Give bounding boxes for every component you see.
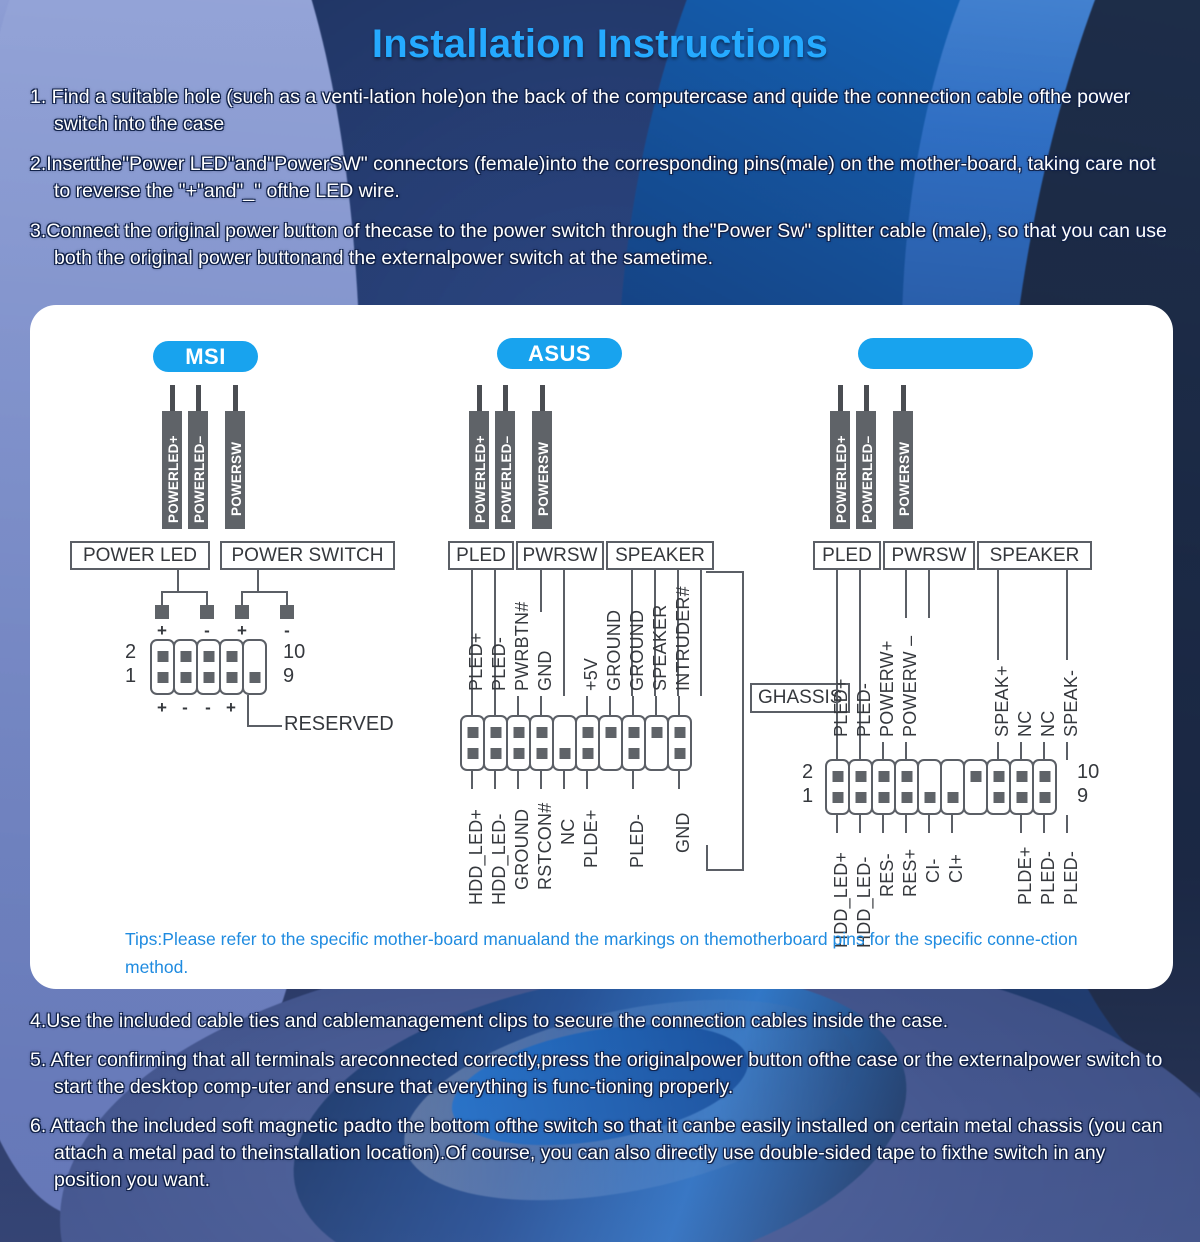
page-title: Installation Instructions [0, 22, 1200, 67]
pin-lead [905, 815, 907, 833]
pin-lead [586, 771, 588, 789]
pin-number-2: 2 [802, 761, 813, 784]
pin-cell [506, 715, 531, 771]
pin-lead [471, 771, 473, 789]
instruction-item: 1. Find a suitable hole (such as a venti… [30, 84, 1175, 138]
connector-box-pled: PLED [813, 541, 881, 570]
pin-cell [552, 715, 577, 771]
plug-label: POWERLED– [192, 436, 207, 523]
plug-powersw: POWERSW [893, 411, 913, 529]
pin-label-bottom: CI- [923, 858, 944, 883]
plug-label: POWERLED+ [473, 435, 488, 523]
pin-label-bottom: PLED- [1038, 851, 1059, 905]
pin-cell [575, 715, 600, 771]
pin-label-bottom: CI+ [946, 854, 967, 883]
pin-cell [219, 639, 244, 695]
plug-powerled-minus: POWERLED– [495, 411, 515, 529]
plug-lead [503, 385, 508, 411]
reserved-label: RESERVED [284, 713, 394, 736]
reserved-line [247, 695, 249, 727]
pin-lead [1020, 742, 1022, 760]
pin-lead [540, 771, 542, 789]
pin-lead [632, 771, 634, 789]
instruction-item: 2.Insertthe"Power LED"and"PowerSW" conne… [30, 151, 1175, 205]
plug-powersw: POWERSW [225, 411, 245, 529]
instruction-item: 4.Use the included cable ties and cablem… [30, 1008, 1175, 1035]
branch-line [286, 591, 288, 605]
pin-cell [894, 759, 919, 815]
pin-label-top: PLED+ [466, 632, 487, 691]
connector-box-pwrsw: PWRSW [516, 541, 604, 570]
plug-lead [233, 385, 238, 411]
pin-label-top: SPEAK- [1061, 670, 1082, 737]
pin-label-bottom: PLDE+ [1015, 846, 1036, 905]
pin-header-third [825, 759, 1055, 815]
pin-number-10: 10 [283, 641, 305, 664]
polarity-mark: + [224, 698, 238, 718]
pin-label-bottom: RES+ [900, 849, 921, 897]
instruction-item: 5. After confirming that all terminals a… [30, 1047, 1175, 1101]
pin-lead [997, 742, 999, 760]
pin-label-top: SPEAK+ [992, 665, 1013, 737]
chassis-bracket [706, 845, 708, 871]
pin-lead [1043, 815, 1045, 833]
pin-lead [678, 771, 680, 789]
pin-cell [1032, 759, 1057, 815]
page-root: Installation Instructions 1. Find a suit… [0, 0, 1200, 1242]
pin-label-bottom: NC [558, 819, 579, 845]
pin-header-asus [460, 715, 690, 771]
pin-label-top: INTRUDER# [673, 586, 694, 691]
pin-lead [609, 696, 611, 716]
plug-pin [200, 605, 214, 619]
pin-number-9: 9 [283, 665, 294, 688]
brand-badge-third [858, 338, 1033, 369]
plug-label: POWERSW [897, 442, 912, 516]
pin-lead [836, 815, 838, 833]
plug-lead [864, 385, 869, 411]
pin-lead [836, 742, 838, 760]
instructions-top-list: 1. Find a suitable hole (such as a venti… [30, 84, 1175, 285]
pin-cell [986, 759, 1011, 815]
branch-line [241, 591, 243, 605]
plug-lead [477, 385, 482, 411]
pin-lead [905, 742, 907, 760]
pin-cell [644, 715, 669, 771]
pin-label-top: GROUND [627, 610, 648, 691]
pin-lead [517, 771, 519, 789]
drop-line [928, 570, 930, 618]
pin-label-top: POWERW – [900, 636, 921, 737]
pin-cell [825, 759, 850, 815]
reserved-line [247, 725, 282, 727]
pin-number-9: 9 [1077, 785, 1088, 808]
polarity-mark: + [235, 621, 249, 641]
pin-label-top: PWRBTN# [512, 602, 533, 691]
pin-label-bottom: RSTCON# [535, 803, 556, 890]
plug-label: POWERLED+ [166, 435, 181, 523]
pin-label-top: NC [1015, 711, 1036, 737]
tips-text: Tips:Please refer to the specific mother… [125, 925, 1085, 981]
connector-box-pled: PLED [448, 541, 514, 570]
instruction-item: 6. Attach the included soft magnetic pad… [30, 1113, 1175, 1194]
pin-cell [667, 715, 692, 771]
drop-line [700, 570, 702, 696]
polarity-mark: - [178, 698, 192, 718]
plug-label: POWERSW [229, 442, 244, 516]
plug-label: POWERLED+ [834, 435, 849, 523]
branch-line [257, 570, 259, 592]
pin-lead [494, 696, 496, 716]
pin-cell [529, 715, 554, 771]
instructions-bottom-list: 4.Use the included cable ties and cablem… [30, 1008, 1175, 1206]
pin-lead [471, 696, 473, 716]
pin-label-bottom: GND [673, 812, 694, 853]
drop-line [1066, 570, 1068, 660]
brand-badge-asus: ASUS [497, 338, 622, 369]
pin-label-top: +5V [581, 658, 602, 691]
pin-label-bottom: PLED- [1061, 851, 1082, 905]
pin-label-bottom: PLDE+ [581, 809, 602, 868]
pin-cell [598, 715, 623, 771]
pin-number-1: 1 [802, 785, 813, 808]
pin-lead [882, 742, 884, 760]
pin-lead [882, 815, 884, 833]
plug-powerled-plus: POWERLED+ [830, 411, 850, 529]
pin-label-top: PLED- [854, 683, 875, 737]
pin-label-top: PLED+ [831, 678, 852, 737]
pin-label-top: PLED- [489, 637, 510, 691]
branch-line [206, 591, 208, 605]
polarity-mark: - [201, 698, 215, 718]
plug-pin [280, 605, 294, 619]
pin-number-10: 10 [1077, 761, 1099, 784]
plug-powerled-plus: POWERLED+ [469, 411, 489, 529]
drop-line [997, 570, 999, 660]
pin-label-bottom: GROUND [512, 809, 533, 890]
plug-powerled-minus: POWERLED– [188, 411, 208, 529]
polarity-mark: - [280, 621, 294, 641]
pin-cell [150, 639, 175, 695]
pin-cell [621, 715, 646, 771]
pin-label-top: GROUND [604, 610, 625, 691]
connector-box-speaker: SPEAKER [977, 541, 1092, 570]
pin-label-top: NC [1038, 711, 1059, 737]
plug-lead [540, 385, 545, 411]
pin-cell [173, 639, 198, 695]
pin-cell [483, 715, 508, 771]
plug-lead [838, 385, 843, 411]
plug-lead [901, 385, 906, 411]
pin-lead [517, 696, 519, 716]
pin-lead [655, 696, 657, 716]
plug-label: POWERLED– [860, 436, 875, 523]
pin-number-2: 2 [125, 641, 136, 664]
branch-line [161, 591, 208, 593]
plug-pin [235, 605, 249, 619]
plug-lead [170, 385, 175, 411]
pin-lead [928, 815, 930, 833]
plug-label: POWERSW [536, 442, 551, 516]
plug-label: POWERLED– [499, 436, 514, 523]
pin-cell [963, 759, 988, 815]
connector-box-power-switch: POWER SWITCH [220, 541, 395, 570]
pin-cell [848, 759, 873, 815]
pin-header-msi [150, 639, 265, 695]
pin-lead [540, 696, 542, 716]
pin-label-bottom: PLED- [627, 814, 648, 868]
plug-lead [196, 385, 201, 411]
pin-cell [196, 639, 221, 695]
pin-cell [1009, 759, 1034, 815]
pin-lead [494, 771, 496, 789]
pin-label-top: POWERW+ [877, 640, 898, 737]
pin-label-top: GND [535, 650, 556, 691]
polarity-mark: + [155, 621, 169, 641]
chassis-bracket [742, 571, 744, 871]
branch-line [177, 570, 179, 592]
branch-line [161, 591, 163, 605]
pin-lead [951, 815, 953, 833]
pin-lead [1020, 815, 1022, 833]
pin-label-top: SPEAKER [650, 605, 671, 691]
chassis-bracket [706, 571, 744, 573]
pin-lead [1066, 815, 1068, 833]
instruction-item: 3.Connect the original power button of t… [30, 218, 1175, 272]
diagram-card: MSI POWERLED+ POWERLED– POWERSW POWER LE… [30, 305, 1173, 989]
drop-line [905, 570, 907, 618]
pin-lead [859, 815, 861, 833]
pin-lead [1066, 742, 1068, 760]
plug-pin [155, 605, 169, 619]
plug-powerled-plus: POWERLED+ [162, 411, 182, 529]
plug-powerled-minus: POWERLED– [856, 411, 876, 529]
pin-lead [632, 696, 634, 716]
connector-box-power-led: POWER LED [70, 541, 210, 570]
pin-lead [859, 742, 861, 760]
polarity-mark: - [200, 621, 214, 641]
pin-lead [1043, 742, 1045, 760]
pin-lead [678, 696, 680, 716]
drop-line [563, 570, 565, 696]
branch-line [241, 591, 288, 593]
pin-label-bottom: RES- [877, 853, 898, 897]
pin-cell [940, 759, 965, 815]
pin-cell [242, 639, 267, 695]
brand-badge-msi: MSI [153, 341, 258, 372]
pin-cell [460, 715, 485, 771]
pin-label-bottom: HDD_LED+ [466, 809, 487, 905]
pin-number-1: 1 [125, 665, 136, 688]
pin-lead [563, 771, 565, 789]
connector-box-pwrsw: PWRSW [883, 541, 975, 570]
plug-powersw: POWERSW [532, 411, 552, 529]
polarity-mark: + [155, 698, 169, 718]
pin-label-bottom: HDD_LED- [489, 813, 510, 905]
connector-box-speaker: SPEAKER [606, 541, 714, 570]
drop-line [540, 570, 542, 612]
pin-cell [917, 759, 942, 815]
pin-lead [586, 696, 588, 716]
pin-cell [871, 759, 896, 815]
chassis-bracket [706, 869, 744, 871]
